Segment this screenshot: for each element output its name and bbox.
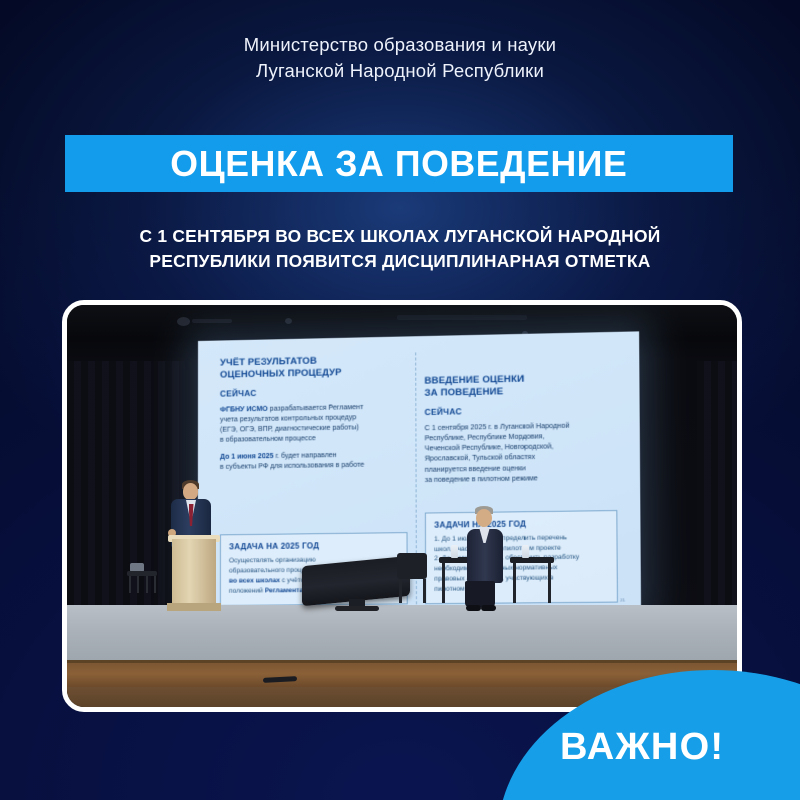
participant-head bbox=[476, 509, 492, 527]
empty-chair bbox=[397, 553, 427, 603]
slide-left-task-heading: ЗАДАЧА НА 2025 ГОД bbox=[229, 541, 398, 552]
slide-left-now-label: СЕЙЧАС bbox=[220, 386, 407, 399]
subtitle: С 1 СЕНТЯБРЯ ВО ВСЕХ ШКОЛАХ ЛУГАНСКОЙ НА… bbox=[50, 224, 750, 273]
page-title: ОЦЕНКА ЗА ПОВЕДЕНИЕ bbox=[170, 146, 627, 182]
stool-leg bbox=[154, 576, 156, 593]
table-leg bbox=[442, 563, 445, 603]
subtitle-line-1: С 1 СЕНТЯБРЯ ВО ВСЕХ ШКОЛАХ ЛУГАНСКОЙ НА… bbox=[50, 224, 750, 249]
slide-right-heading-line-2: ЗА ПОВЕДЕНИЕ bbox=[424, 383, 616, 399]
participant-shoe bbox=[481, 605, 496, 611]
slide-right-paragraph-1: С 1 сентября 2025 г. в Луганской Народно… bbox=[425, 421, 618, 486]
slide-right-p1-line-6: за поведение в пилотном режиме bbox=[425, 473, 617, 486]
water-bottle bbox=[451, 545, 458, 558]
conference-photo: УЧЁТ РЕЗУЛЬТАТОВ ОЦЕНОЧНЫХ ПРОЦЕДУР СЕЙЧ… bbox=[67, 305, 737, 707]
slide-page-number: 21 bbox=[620, 597, 625, 602]
slide-left-p1-rest: разрабатывается Регламент bbox=[270, 404, 364, 413]
stage-floor bbox=[67, 605, 737, 663]
slide-left-task-line-4-plain: положений bbox=[229, 588, 265, 595]
ceiling-light-icon bbox=[177, 317, 190, 326]
slide-left-p2-bold: До 1 июня 2025 bbox=[220, 453, 274, 461]
slide-left-p1-line-4: в образовательном процессе bbox=[220, 433, 407, 446]
slide-right-task-heading: ЗАДАЧИ НА 2025 ГОД bbox=[434, 518, 608, 529]
table-leg bbox=[548, 563, 551, 603]
podium-base bbox=[167, 603, 221, 611]
organization-header-line-2: Луганской Народной Республики bbox=[0, 58, 800, 84]
slide-left-p2-line-2: в субъекты РФ для использования в работе bbox=[220, 460, 407, 473]
photo-card: УЧЁТ РЕЗУЛЬТАТОВ ОЦЕНОЧНЫХ ПРОЦЕДУР СЕЙЧ… bbox=[62, 300, 742, 712]
slide-left-paragraph-2: До 1 июня 2025 г. будет направлен в субъ… bbox=[220, 449, 407, 472]
water-bottle bbox=[522, 545, 529, 558]
chair-backrest bbox=[397, 553, 427, 579]
title-banner: ОЦЕНКА ЗА ПОВЕДЕНИЕ bbox=[65, 135, 733, 192]
organization-header: Министерство образования и науки Луганск… bbox=[0, 32, 800, 85]
slide-left-p1-bold: ФГБНУ ИСМО bbox=[220, 406, 270, 414]
stage-monitor-base bbox=[335, 606, 379, 611]
chair-leg bbox=[399, 579, 402, 603]
slide-left-task-bold-1: во всех школах bbox=[229, 577, 280, 585]
slide-left-heading-line-2: ОЦЕНОЧНЫХ ПРОЦЕДУР bbox=[220, 365, 407, 381]
chair-leg bbox=[423, 579, 426, 603]
organization-header-line-1: Министерство образования и науки bbox=[0, 32, 800, 58]
slide-right-now-label: СЕЙЧАС bbox=[425, 404, 617, 417]
slide-left-paragraph-1: ФГБНУ ИСМО разрабатывается Регламент уче… bbox=[220, 402, 407, 446]
slide-left-p2-rest: г. будет направлен bbox=[274, 452, 337, 460]
ceiling-rail bbox=[192, 319, 232, 323]
ceiling-light-icon bbox=[285, 318, 292, 324]
stool-leg bbox=[137, 576, 139, 593]
stool-seat bbox=[127, 571, 157, 576]
stage-curtain-left bbox=[67, 361, 185, 619]
stage-curtain-right bbox=[697, 361, 737, 619]
participant-legs bbox=[465, 581, 495, 607]
poster-canvas: Министерство образования и науки Луганск… bbox=[0, 0, 800, 800]
table-leg bbox=[513, 563, 516, 603]
side-table-right bbox=[510, 557, 554, 603]
speaker-head bbox=[183, 483, 198, 500]
slide-right-heading: ВВЕДЕНИЕ ОЦЕНКИ ЗА ПОВЕДЕНИЕ bbox=[424, 371, 616, 399]
important-badge-label: ВАЖНО! bbox=[560, 728, 724, 766]
stool-leg bbox=[129, 576, 131, 593]
podium bbox=[172, 539, 216, 611]
stool-leg bbox=[146, 576, 148, 593]
participant-shoe bbox=[466, 605, 481, 611]
subtitle-line-2: РЕСПУБЛИКИ ПОЯВИТСЯ ДИСЦИПЛИНАРНАЯ ОТМЕТ… bbox=[50, 249, 750, 274]
side-stool bbox=[127, 571, 157, 593]
slide-left-task-bold-2: Регламента bbox=[265, 587, 303, 594]
ceiling-rail bbox=[397, 315, 527, 320]
slide-left-heading: УЧЁТ РЕЗУЛЬТАТОВ ОЦЕНОЧНЫХ ПРОЦЕДУР bbox=[220, 353, 407, 381]
